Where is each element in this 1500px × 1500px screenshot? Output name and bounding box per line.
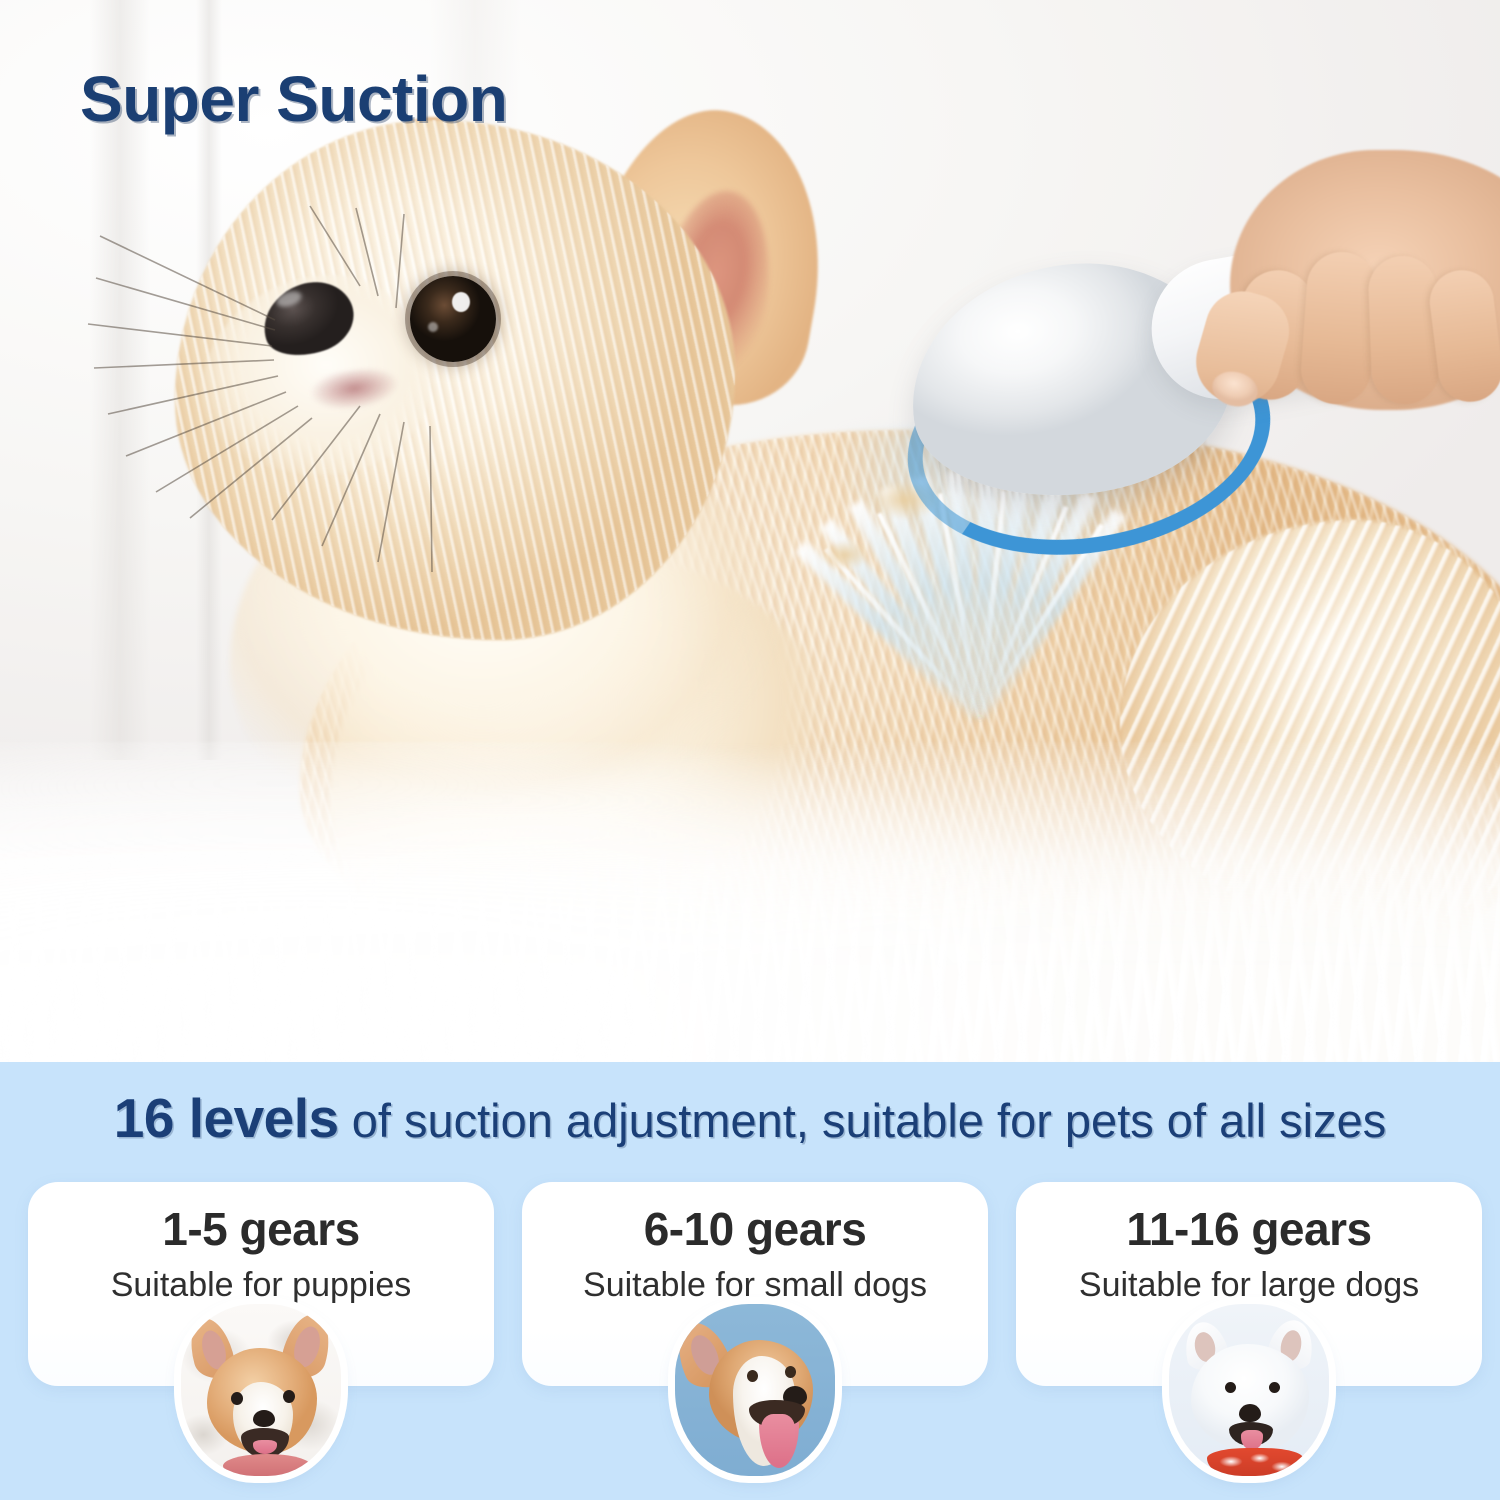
- gear-card-11-16[interactable]: 11-16 gears Suitable for large dogs: [1016, 1182, 1482, 1386]
- gear-card-subtitle: Suitable for puppies: [28, 1266, 494, 1305]
- gear-card-subtitle: Suitable for large dogs: [1016, 1266, 1482, 1305]
- samoyed-dog-photo: [1169, 1304, 1329, 1476]
- loose-fur-particle: [820, 540, 870, 570]
- dog-eye-highlight-secondary: [428, 322, 438, 332]
- finger: [1299, 250, 1379, 407]
- dog-eye-highlight: [452, 292, 470, 312]
- corgi-puppy-photo: [181, 1304, 341, 1476]
- suction-levels-banner: 16 levels of suction adjustment, suitabl…: [0, 1062, 1500, 1500]
- gear-card-title: 6-10 gears: [522, 1202, 988, 1256]
- page-title: Super Suction: [80, 62, 507, 136]
- grooming-brush-device: [900, 230, 1500, 670]
- banner-headline: 16 levels of suction adjustment, suitabl…: [0, 1086, 1500, 1150]
- finger: [1367, 255, 1440, 405]
- gear-card-title: 11-16 gears: [1016, 1202, 1482, 1256]
- product-feature-image: Super Suction 16 levels of suction adjus…: [0, 0, 1500, 1500]
- gear-card-title: 1-5 gears: [28, 1202, 494, 1256]
- corgi-dog-photo: [675, 1304, 835, 1476]
- gear-card-6-10[interactable]: 6-10 gears Suitable for small dogs: [522, 1182, 988, 1386]
- gear-cards: 1-5 gears Suitable for puppies: [28, 1182, 1482, 1392]
- hero-photo: Super Suction: [0, 0, 1500, 1062]
- dog-eye: [410, 276, 496, 362]
- gear-card-subtitle: Suitable for small dogs: [522, 1266, 988, 1305]
- rug-fiber-texture: [0, 832, 1500, 1062]
- headline-strong: 16 levels: [114, 1087, 339, 1149]
- headline-rest: of suction adjustment, suitable for pets…: [339, 1094, 1387, 1147]
- gear-card-1-5[interactable]: 1-5 gears Suitable for puppies: [28, 1182, 494, 1386]
